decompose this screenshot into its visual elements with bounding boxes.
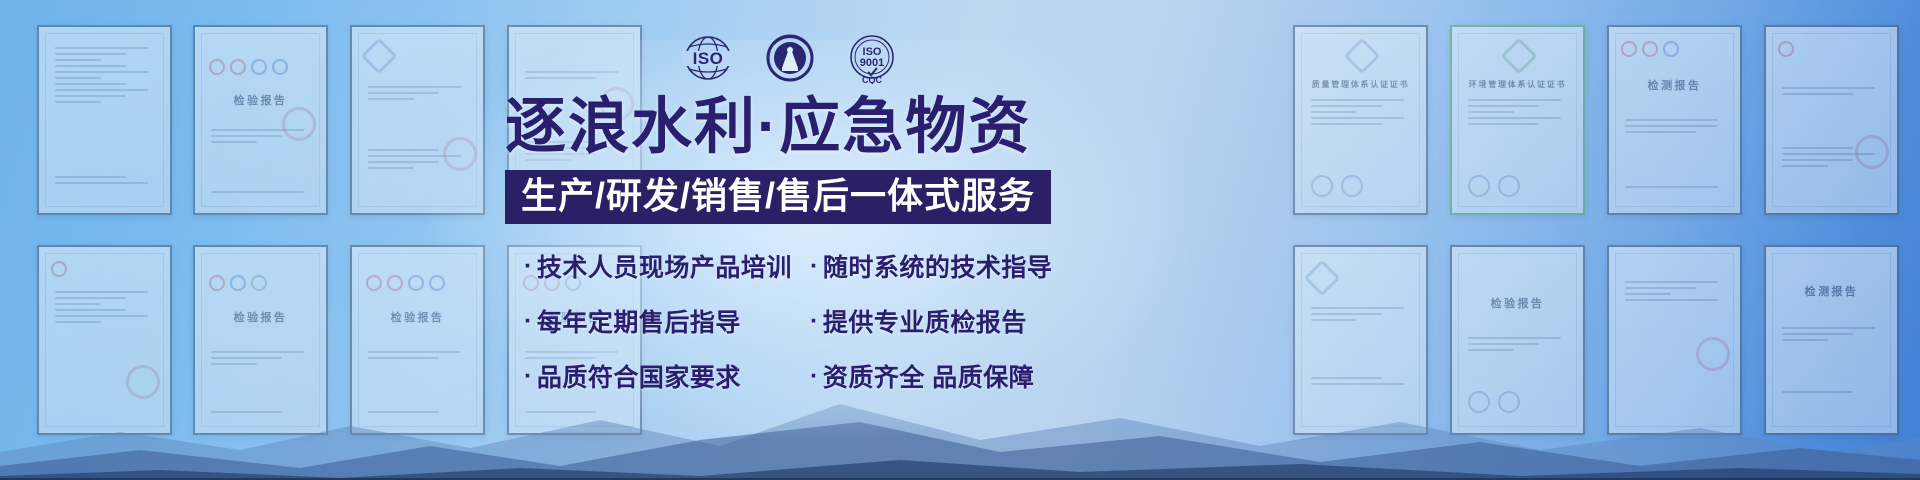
svg-text:ISO: ISO (693, 49, 724, 68)
bullet-dot-icon: · (810, 254, 819, 279)
feature-label: 品质符合国家要求 (537, 358, 741, 394)
certificate-text-lines (55, 43, 155, 107)
bullet-dot-icon: · (524, 364, 533, 389)
feature-item: · 随时系统的技术指导 (810, 248, 1084, 284)
iso-9000-seal-badge (762, 32, 818, 84)
certificate-inner-border (1772, 33, 1891, 207)
certificate-thumbnail: 环境管理体系认证证书 (1450, 25, 1585, 215)
certificate-logo-row (1778, 41, 1794, 57)
certificate-accreditation-badges (1468, 175, 1520, 197)
feature-item: · 资质齐全 品质保障 (810, 358, 1084, 394)
certificate-thumbnail (350, 25, 485, 215)
feature-label: 每年定期售后指导 (537, 303, 741, 339)
iso-9000-seal-icon (762, 32, 818, 84)
bullet-dot-icon: · (524, 309, 533, 334)
certificate-logo-row (51, 261, 67, 277)
svg-text:CQC: CQC (862, 75, 883, 84)
certificate-text-lines (525, 67, 625, 83)
feature-list: · 技术人员现场产品培训 · 随时系统的技术指导 · 每年定期售后指导 · 提供… (524, 248, 1084, 394)
banner-subtitle-bar: 生产/研发/销售/售后一体式服务 (505, 170, 1051, 224)
certificate-logo-row (1621, 41, 1679, 57)
feature-label: 提供专业质检报告 (823, 303, 1027, 339)
certificate-text-lines (1625, 115, 1725, 137)
certificate-footer-lines (211, 187, 311, 197)
feature-label: 技术人员现场产品培训 (537, 248, 792, 284)
banner-title: 逐浪水利·应急物资 (505, 96, 1085, 157)
certificate-thumbnail: 检测报告 (1607, 25, 1742, 215)
bullet-dot-icon: · (810, 309, 819, 334)
feature-label: 资质齐全 品质保障 (823, 358, 1034, 394)
iso-globe-icon: ISO (680, 32, 736, 84)
certificate-title: 环境管理体系认证证书 (1452, 79, 1583, 90)
headline-block: 逐浪水利·应急物资 生产/研发/销售/售后一体式服务 (505, 96, 1085, 224)
certificate-footer-lines (55, 172, 155, 188)
certificate-logo-row (366, 275, 445, 291)
iso-badge-group: ISO ISO 9001 CQC (680, 30, 900, 86)
certificate-thumbnail (37, 25, 172, 215)
certificate-seal (443, 137, 477, 171)
certificate-title: 检测报告 (1766, 283, 1897, 299)
feature-item: · 品质符合国家要求 (524, 358, 810, 394)
feature-item: · 提供专业质检报告 (810, 303, 1084, 339)
certificate-title: 质量管理体系认证证书 (1295, 79, 1426, 90)
iso-9001-cqc-icon: ISO 9001 CQC (844, 32, 900, 84)
certificate-seal (282, 107, 316, 141)
certificate-thumbnail: 质量管理体系认证证书 (1293, 25, 1428, 215)
certificate-accreditation-badges (1311, 175, 1363, 197)
certificate-text-lines (1311, 95, 1411, 129)
promo-banner: 检验报告 质量管理体系认证证书 环境 (0, 0, 1920, 480)
certificate-footer-lines (1625, 182, 1725, 192)
certificate-title: 检测报告 (1609, 77, 1740, 93)
certificate-text-lines (1468, 95, 1568, 129)
certificate-logo-row (209, 59, 288, 75)
svg-text:9001: 9001 (860, 57, 884, 69)
iso-9001-cqc-badge: ISO 9001 CQC (844, 32, 900, 84)
certificate-logo-row (209, 275, 267, 291)
certificate-title: 检验报告 (195, 92, 326, 108)
bullet-dot-icon: · (810, 364, 819, 389)
certificate-text-lines (368, 82, 468, 104)
feature-item: · 技术人员现场产品培训 (524, 248, 810, 284)
feature-item: · 每年定期售后指导 (524, 303, 810, 339)
iso-globe-badge: ISO (680, 32, 736, 84)
certificate-seal (1855, 135, 1889, 169)
bullet-dot-icon: · (524, 254, 533, 279)
certificate-thumbnail: 检验报告 (193, 25, 328, 215)
feature-label: 随时系统的技术指导 (823, 248, 1053, 284)
certificate-text-lines (1782, 83, 1882, 99)
certificate-thumbnail (1764, 25, 1899, 215)
banner-subtitle: 生产/研发/销售/售后一体式服务 (521, 177, 1035, 215)
